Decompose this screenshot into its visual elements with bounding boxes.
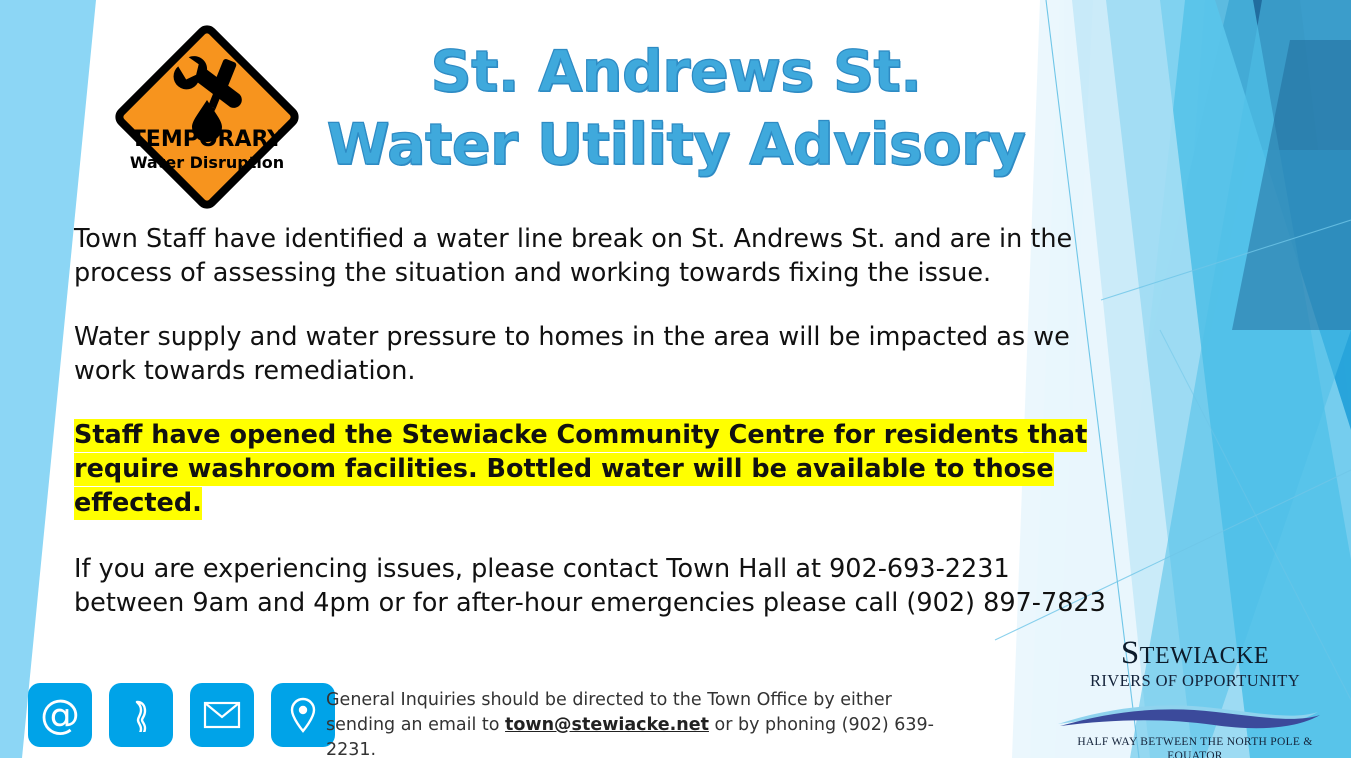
- logo-tagline: RIVERS OF OPPORTUNITY: [1054, 672, 1336, 690]
- logo-wordmark-cap: S: [1121, 635, 1140, 671]
- contact-icon-row: @: [28, 683, 335, 747]
- at-sign-icon[interactable]: @: [28, 683, 92, 747]
- logo-wordmark-rest: TEWIACKE: [1140, 643, 1269, 669]
- sign-line-1: TEMPORARY: [131, 127, 284, 152]
- highlight-text: Staff have opened the Stewiacke Communit…: [74, 419, 1087, 520]
- paragraph-water-pressure: Water supply and water pressure to homes…: [74, 320, 1114, 388]
- sign-line-2: Water Disruption: [130, 153, 284, 172]
- paragraph-community-centre: Staff have opened the Stewiacke Communit…: [74, 418, 1114, 520]
- logo-wordmark: STEWIACKE: [1054, 636, 1336, 673]
- logo-tagline-o: O: [1182, 671, 1194, 690]
- advisory-body: Town Staff have identified a water line …: [74, 222, 1114, 620]
- logo-tagline-rest: IVERS OF: [1101, 671, 1182, 690]
- logo-tagline-r: R: [1090, 671, 1101, 690]
- logo-wave-graphic: [1054, 692, 1336, 732]
- title-line-2: Water Utility Advisory: [316, 109, 1036, 182]
- envelope-icon[interactable]: [190, 683, 254, 747]
- stewiacke-town-logo: STEWIACKE RIVERS OF OPPORTUNITY HALF WAY…: [1054, 636, 1336, 758]
- title-line-1: St. Andrews St.: [316, 36, 1036, 109]
- paragraph-contact: If you are experiencing issues, please c…: [74, 552, 1114, 620]
- paragraph-line-break: Town Staff have identified a water line …: [74, 222, 1114, 290]
- email-link[interactable]: town@stewiacke.net: [505, 715, 709, 735]
- logo-subtitle: HALF WAY BETWEEN THE NORTH POLE & EQUATO…: [1054, 735, 1336, 758]
- page-title: St. Andrews St. Water Utility Advisory: [316, 36, 1036, 182]
- phone-icon[interactable]: [109, 683, 173, 747]
- temporary-water-disruption-sign: TEMPORARY Water Disruption: [112, 22, 302, 212]
- water-advisory-poster: TEMPORARY Water Disruption St. Andrews S…: [0, 0, 1351, 758]
- at-sign-glyph: @: [40, 695, 80, 735]
- logo-tagline-tail: PPORTUNITY: [1194, 671, 1300, 690]
- general-inquiries-text: General Inquiries should be directed to …: [326, 688, 966, 758]
